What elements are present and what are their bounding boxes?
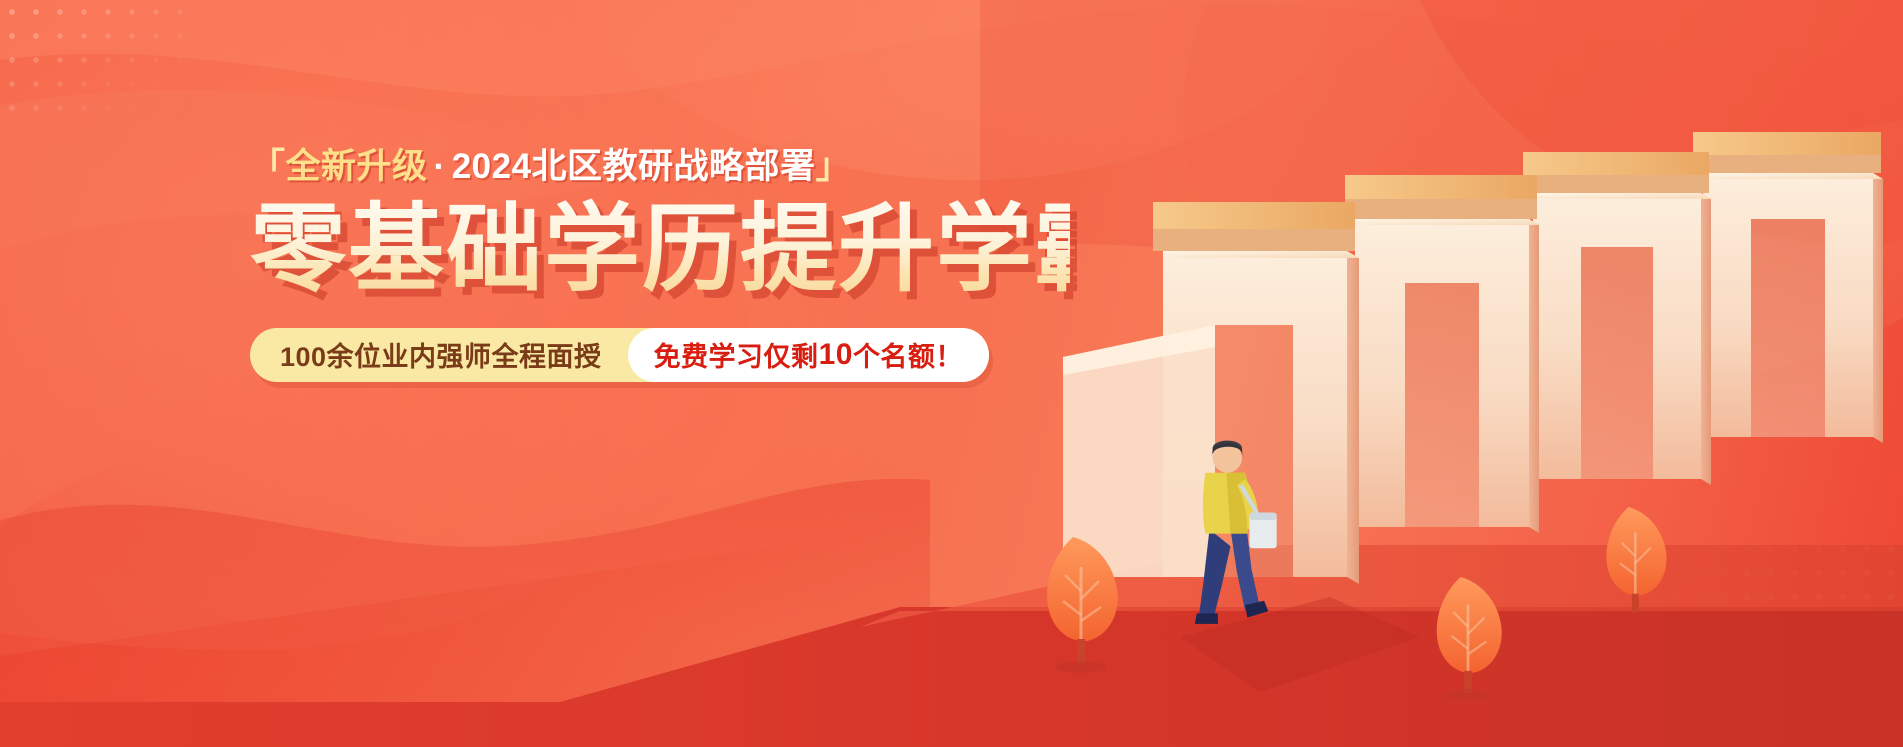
arch-4 [1693,132,1883,443]
tree-right [1437,577,1502,700]
bracket-open: 「 [250,147,286,186]
dot-pattern-top-left [0,0,200,120]
banner-subtitle: 「全新升级·2024北区教研战略部署」 [250,146,1070,188]
pill-right-prefix: 免费学习仅剩 [654,335,819,374]
subtitle-gold-text: 全新升级 [286,147,428,186]
feature-pill-row: 100余位业内强师全程面授 免费学习仅剩10个名额！ [250,328,989,382]
pill-right-suffix: 个名额！ [853,335,963,374]
arch-3 [1523,152,1711,485]
subtitle-separator: · [428,147,452,186]
pill-left-label: 100余位业内强师全程面授 [250,335,628,374]
banner-headline: 零基础学历提升学霸班 [250,198,1070,302]
arch-2 [1345,175,1539,533]
pill-right-count: 10 [819,338,853,372]
tree-far-right [1606,507,1666,612]
subtitle-white-text: 2024北区教研战略部署 [452,147,816,186]
pill-right-badge[interactable]: 免费学习仅剩10个名额！ [628,328,989,382]
headline-copy-block: 「全新升级·2024北区教研战略部署」 零基础学历提升学霸班 100余位业内强师… [250,146,1070,382]
promo-banner: 「全新升级·2024北区教研战略部署」 零基础学历提升学霸班 100余位业内强师… [0,0,1903,747]
bracket-close: 」 [816,147,852,186]
